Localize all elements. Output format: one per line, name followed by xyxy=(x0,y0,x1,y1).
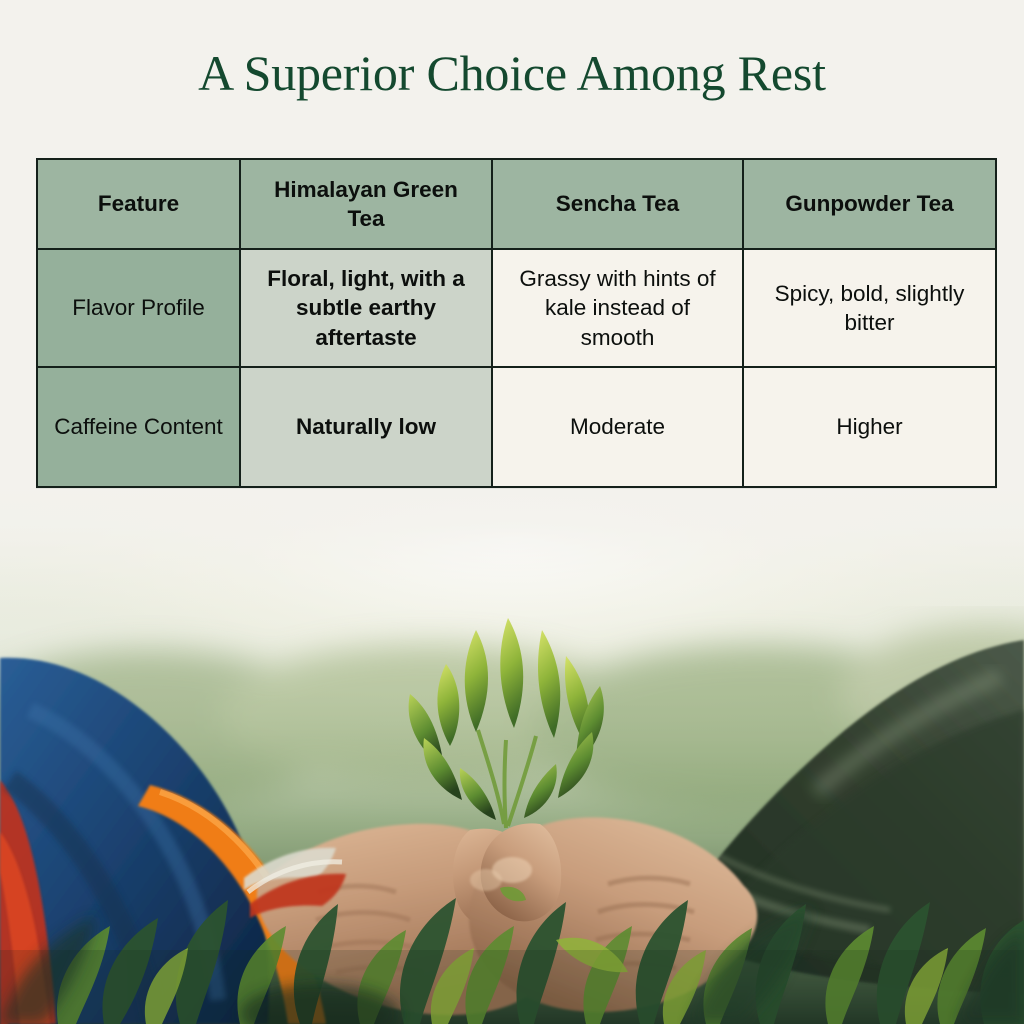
cell-gunpowder-flavor: Spicy, bold, slightly bitter xyxy=(743,249,996,367)
table-body: Flavor Profile Floral, light, with a sub… xyxy=(37,249,996,487)
column-header-gunpowder: Gunpowder Tea xyxy=(743,159,996,249)
cell-himalayan-flavor: Floral, light, with a subtle earthy afte… xyxy=(240,249,492,367)
cell-feature-caffeine: Caffeine Content xyxy=(37,367,240,487)
table-header: Feature Himalayan Green Tea Sencha Tea G… xyxy=(37,159,996,249)
tea-comparison-table: Feature Himalayan Green Tea Sencha Tea G… xyxy=(36,158,997,488)
cell-himalayan-caffeine: Naturally low xyxy=(240,367,492,487)
infographic-page: A Superior Choice Among Rest Feature Him… xyxy=(0,0,1024,1024)
tea-field-hands-photo xyxy=(0,480,1024,1024)
table-row: Flavor Profile Floral, light, with a sub… xyxy=(37,249,996,367)
cell-sencha-caffeine: Moderate xyxy=(492,367,743,487)
cell-sencha-flavor: Grassy with hints of kale instead of smo… xyxy=(492,249,743,367)
column-header-sencha: Sencha Tea xyxy=(492,159,743,249)
column-header-feature: Feature xyxy=(37,159,240,249)
cell-gunpowder-caffeine: Higher xyxy=(743,367,996,487)
cell-feature-flavor: Flavor Profile xyxy=(37,249,240,367)
column-header-himalayan: Himalayan Green Tea xyxy=(240,159,492,249)
page-title: A Superior Choice Among Rest xyxy=(0,46,1024,101)
table-header-row: Feature Himalayan Green Tea Sencha Tea G… xyxy=(37,159,996,249)
table-row: Caffeine Content Naturally low Moderate … xyxy=(37,367,996,487)
